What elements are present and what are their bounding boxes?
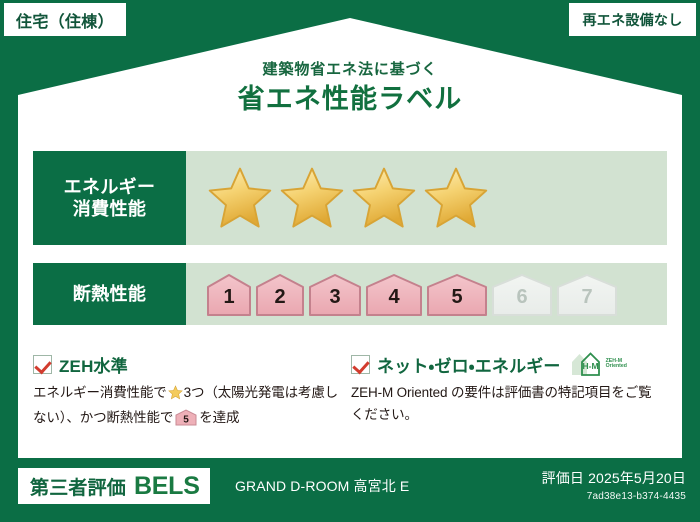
insulation-level-1: 1 — [206, 272, 252, 316]
energy-performance-label: エネルギー 消費性能 — [33, 151, 186, 245]
energy-performance-label: 住宅（住棟） 再エネ設備なし 建築物省エネ法に基づく 省エネ性能ラベル エネルギ… — [0, 0, 700, 522]
renewable-energy-badge: 再エネ設備なし — [569, 3, 696, 36]
criterion-net-zero: ネット・ゼロ・エネルギー H-M ZEH-M Oriented ZEH-M Or… — [351, 352, 669, 444]
insulation-performance-label: 断熱性能 — [33, 263, 186, 325]
zeh-m-caption-line2: Oriented — [606, 364, 627, 369]
insulation-level-value: 7 — [581, 287, 592, 316]
svg-text:5: 5 — [184, 414, 190, 425]
insulation-label-line1: 断熱性能 — [73, 283, 146, 306]
title-area: 建築物省エネ法に基づく 省エネ性能ラベル — [0, 62, 700, 115]
criterion-zeh-title: ZEH水準 — [59, 352, 128, 377]
insulation-level-3: 3 — [308, 272, 362, 316]
insulation-level-value: 6 — [516, 287, 527, 316]
insulation-level-value: 5 — [451, 287, 462, 316]
star-icon — [278, 165, 346, 231]
criterion-zeh-text-3: を達成 — [199, 410, 239, 425]
footer-right: 評価日 2025年5月20日 7ad38e13-b374-4435 — [542, 468, 686, 502]
energy-performance-row: エネルギー 消費性能 — [33, 151, 667, 245]
building-type-badge: 住宅（住棟） — [4, 3, 126, 36]
check-icon — [351, 355, 370, 374]
insulation-level-value: 4 — [388, 287, 399, 316]
zeh-m-oriented-logo: H-M ZEH-M Oriented — [570, 351, 627, 377]
insulation-level-value: 3 — [329, 287, 340, 316]
insulation-performance-row: 断熱性能 1234567 — [33, 263, 667, 325]
star-icon — [422, 165, 490, 231]
insulation-level-scale: 1234567 — [186, 263, 667, 325]
insulation-level-4: 4 — [365, 272, 423, 316]
inline-house-badge: 5 — [175, 409, 197, 433]
criteria-section: ZEH水準 エネルギー消費性能で3つ（太陽光発電は考慮しない）、かつ断熱性能で5… — [33, 352, 669, 444]
criterion-zeh: ZEH水準 エネルギー消費性能で3つ（太陽光発電は考慮しない）、かつ断熱性能で5… — [33, 352, 351, 444]
property-name: GRAND D-ROOM 高宮北 E — [235, 476, 409, 496]
bels-badge: 第三者評価 BELS — [18, 468, 210, 504]
insulation-level-value: 1 — [223, 287, 234, 316]
insulation-level-value: 2 — [274, 287, 285, 316]
bels-logo-text: BELS — [134, 472, 200, 501]
energy-label-line1: エネルギー — [64, 176, 156, 199]
label-subtitle: 建築物省エネ法に基づく — [0, 62, 700, 79]
criterion-zeh-head: ZEH水準 — [33, 352, 343, 376]
star-icon — [206, 165, 274, 231]
footer: 第三者評価 BELS GRAND D-ROOM 高宮北 E 評価日 2025年5… — [0, 460, 700, 522]
energy-label-line2: 消費性能 — [73, 198, 146, 221]
criterion-zeh-body: エネルギー消費性能で3つ（太陽光発電は考慮しない）、かつ断熱性能で5を達成 — [33, 382, 343, 433]
insulation-level-7: 7 — [556, 272, 618, 316]
insulation-level-2: 2 — [255, 272, 305, 316]
energy-star-rating — [186, 151, 667, 245]
page-title: 省エネ性能ラベル — [0, 84, 700, 115]
star-row — [206, 165, 490, 231]
insulation-level-5: 5 — [426, 272, 488, 316]
star-icon — [168, 388, 183, 403]
svg-text:H-M: H-M — [582, 361, 598, 371]
insulation-level-6: 6 — [491, 272, 553, 316]
star-icon — [350, 165, 418, 231]
criterion-net-zero-title: ネット・ゼロ・エネルギー — [377, 352, 561, 377]
bels-third-party-label: 第三者評価 — [30, 473, 126, 500]
criterion-net-zero-body: ZEH-M Oriented の要件は評価書の特記項目をご覧ください。 — [351, 382, 661, 426]
evaluation-id: 7ad38e13-b374-4435 — [542, 491, 686, 502]
house-level-row: 1234567 — [206, 272, 618, 316]
criterion-net-zero-head: ネット・ゼロ・エネルギー H-M ZEH-M Oriented — [351, 352, 661, 376]
criterion-zeh-text-1: エネルギー消費性能で — [33, 385, 167, 400]
evaluation-date: 評価日 2025年5月20日 — [542, 468, 686, 488]
check-icon — [33, 355, 52, 374]
